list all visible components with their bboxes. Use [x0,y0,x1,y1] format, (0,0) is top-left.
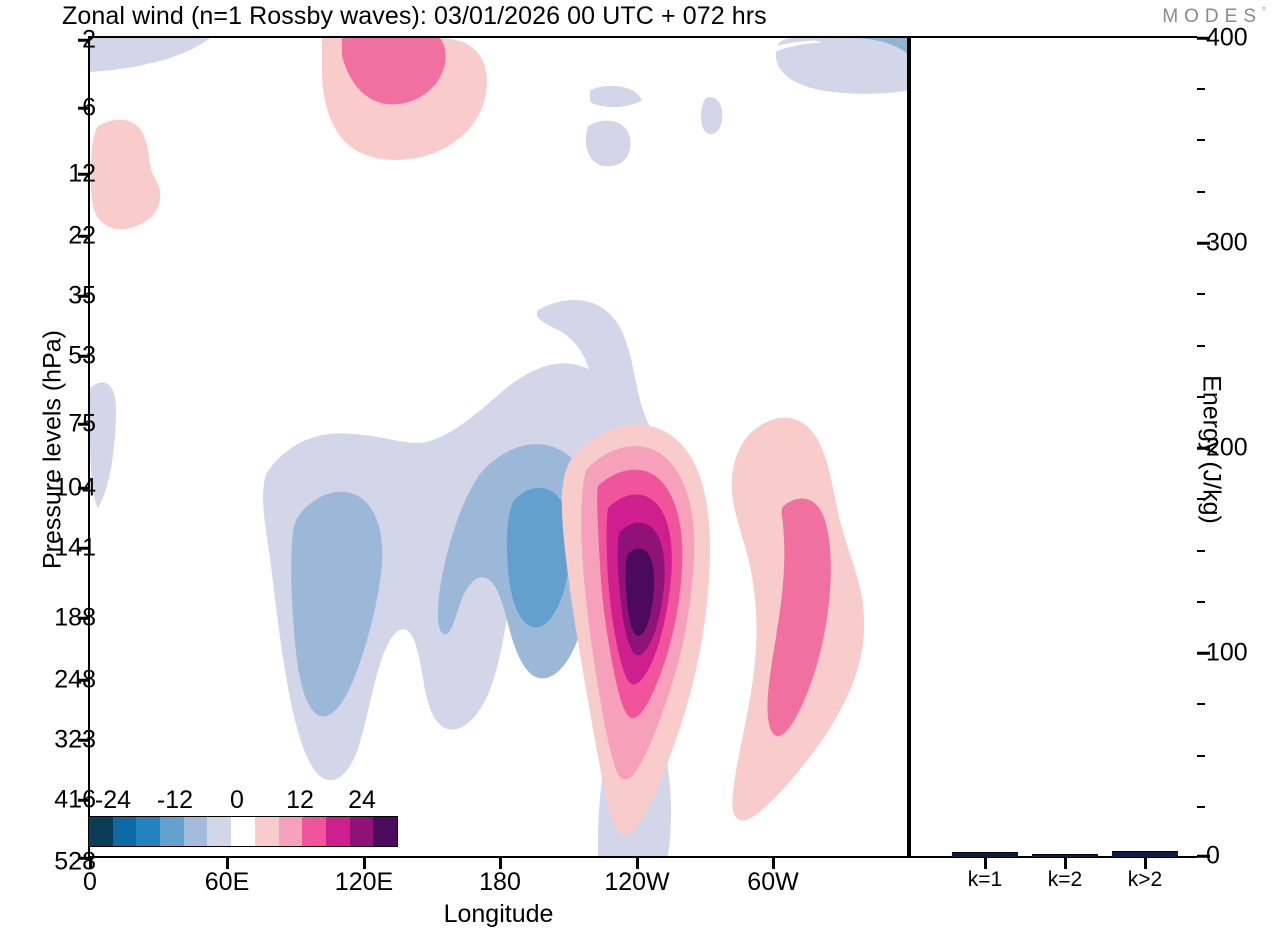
zonal-wind-contour-field [90,38,909,858]
y-tick-mark [78,235,90,238]
y-tick-mark [78,355,90,358]
energy-bar-label-k1: k=1 [968,868,1002,892]
colorbar-swatch-1 [113,817,137,846]
y-tick-mark [78,679,90,682]
y-tick-mark [78,487,90,490]
energy-axis-title: Energy (J/kg) [1197,285,1226,615]
colorbar-swatch-2 [136,817,160,846]
colorbar-swatch-9 [302,817,326,846]
energy-tick-label: 100 [1206,639,1248,668]
colorbar-tick-label: 24 [348,786,376,815]
y-tick-mark [78,617,90,620]
energy-minor-tick [1197,755,1205,757]
x-tick-label: 120E [335,868,393,897]
x-tick-label: 120W [604,868,669,897]
energy-tick-mark [1197,242,1210,245]
energy-bar-panel [909,36,1197,858]
y-tick-mark [78,39,90,42]
energy-bar-kgt2 [1112,851,1178,857]
colorbar-swatch-6 [231,817,255,846]
energy-minor-tick [1197,139,1205,141]
energy-tick-mark [1197,855,1210,858]
x-tick-mark [89,858,92,869]
y-tick-mark [78,295,90,298]
colorbar-swatch-12 [373,817,397,846]
colorbar-swatch-8 [279,817,303,846]
energy-tick-mark [1197,652,1210,655]
colorbar-swatches [88,816,398,847]
y-tick-mark [78,739,90,742]
y-tick-mark [78,107,90,110]
colorbar-swatch-3 [160,817,184,846]
energy-minor-tick [1197,806,1205,808]
y-tick-mark [78,799,90,802]
page-title: Zonal wind (n=1 Rossby waves): 03/01/202… [62,2,767,31]
x-tick-mark [499,858,502,869]
x-tick-mark [772,858,775,869]
colorbar-swatch-10 [326,817,350,846]
x-tick-mark [226,858,229,869]
x-tick-label: 180 [479,868,521,897]
modes-logo-degree: ° [1262,7,1266,18]
colorbar-tick-label: -12 [157,786,193,815]
energy-bar-k2 [1032,854,1098,857]
y-tick-mark [78,173,90,176]
colorbar-swatch-0 [89,817,113,846]
x-tick-mark [636,858,639,869]
energy-tick-label: 400 [1206,24,1248,53]
x-tick-label: 60W [747,868,798,897]
energy-minor-tick [1197,88,1205,90]
colorbar-swatch-5 [207,817,231,846]
y-tick-mark [78,423,90,426]
energy-bar-label-k2: k=2 [1048,868,1082,892]
x-tick-label: 60E [205,868,249,897]
colorbar-swatch-11 [350,817,374,846]
colorbar-tick-label: -24 [95,786,131,815]
energy-minor-tick [1197,191,1205,193]
energy-minor-tick [1197,703,1205,705]
x-axis-title: Longitude [88,900,909,929]
colorbar-tick-label: 0 [230,786,244,815]
energy-bar-k1 [952,852,1018,857]
energy-bar-label-kgt2: k>2 [1128,868,1162,892]
colorbar-swatch-4 [184,817,208,846]
y-tick-mark [78,547,90,550]
contour-plot-panel [88,36,909,858]
colorbar-tick-label: 12 [286,786,314,815]
colorbar-swatch-7 [255,817,279,846]
x-tick-label: 0 [83,868,97,897]
y-axis-title: Pressure levels (hPa) [39,285,68,615]
energy-tick-mark [1197,37,1210,40]
energy-tick-label: 300 [1206,229,1248,258]
x-tick-mark [363,858,366,869]
